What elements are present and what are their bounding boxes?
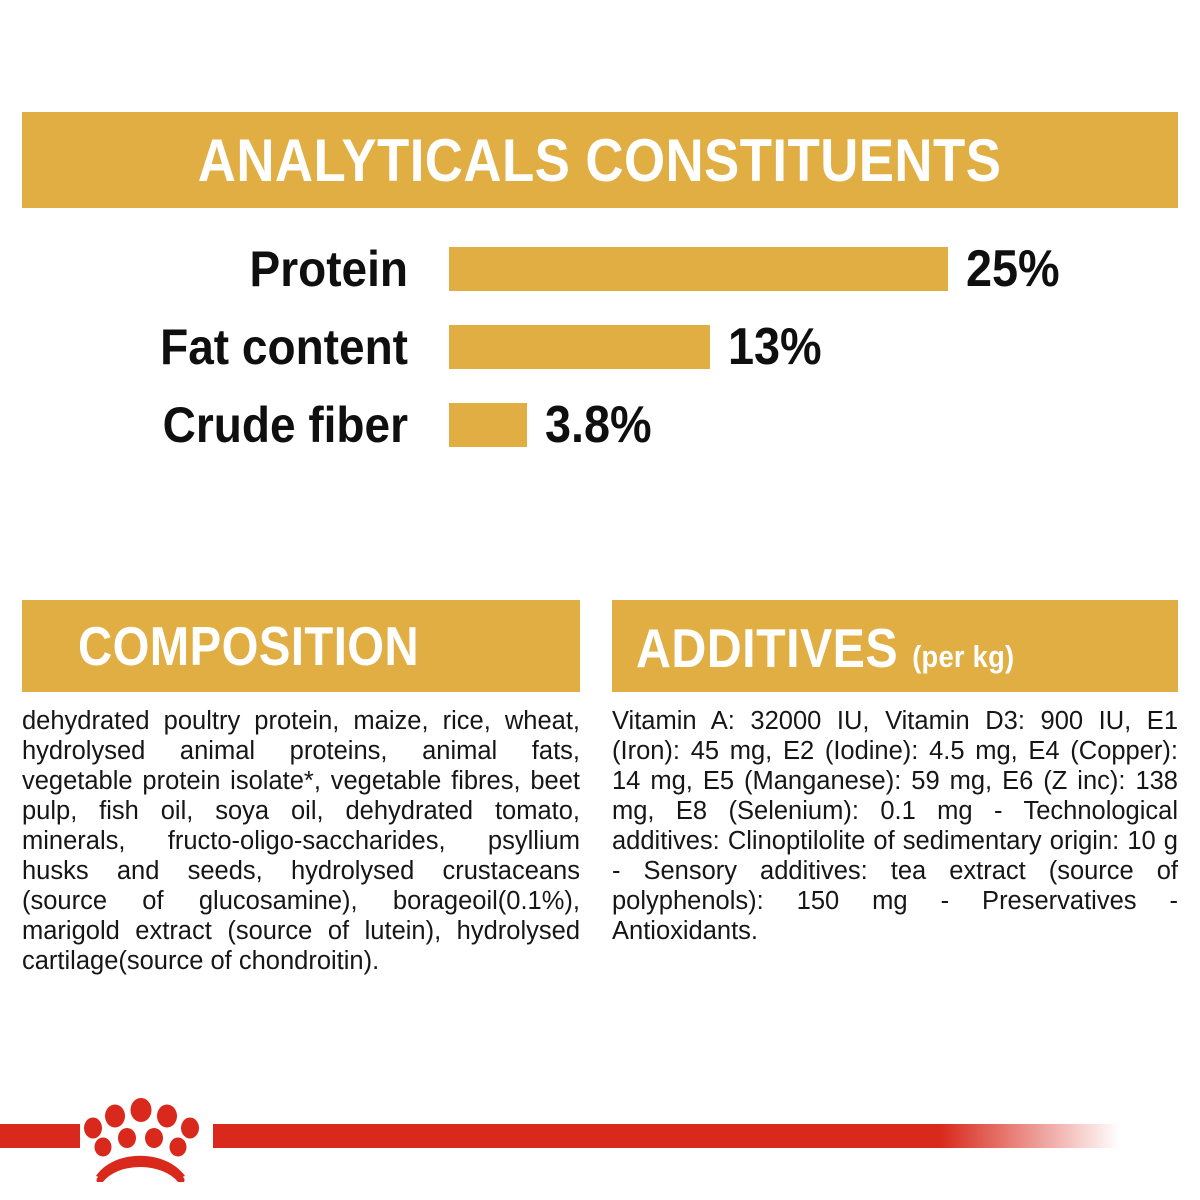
footer-rule-left: [0, 1124, 80, 1148]
analyticals-bar-chart: Protein 25% Fat content 13% Crude fiber …: [0, 240, 1200, 465]
additives-title-group: ADDITIVES (per kg): [636, 616, 1014, 692]
additives-body-text: Vitamin A: 32000 IU, Vitamin D3: 900 IU,…: [612, 706, 1178, 946]
analyticals-constituents-title: ANALYTICALS CONSTITUENTS: [198, 126, 1002, 195]
chart-row-label-crude-fiber: Crude fiber: [33, 396, 408, 454]
chart-bar-area: 13%: [449, 318, 832, 376]
composition-body-text: dehydrated poultry protein, maize, rice,…: [22, 706, 580, 976]
chart-value-crude-fiber: 3.8%: [545, 396, 652, 454]
chart-bar-area: 25%: [449, 240, 1070, 298]
chart-bar-fat-content: [449, 325, 710, 369]
chart-row: Fat content 13%: [0, 318, 1200, 376]
composition-title: COMPOSITION: [78, 614, 419, 678]
chart-value-protein: 25%: [966, 240, 1060, 298]
chart-bar-crude-fiber: [449, 403, 527, 447]
additives-per-kg-label: (per kg): [912, 639, 1014, 675]
chart-row: Protein 25%: [0, 240, 1200, 298]
footer-rule-right: [213, 1124, 1120, 1148]
chart-value-fat-content: 13%: [728, 318, 822, 376]
footer-logo-band: [0, 1090, 1200, 1200]
chart-bar-protein: [449, 247, 948, 291]
chart-row: Crude fiber 3.8%: [0, 396, 1200, 454]
composition-banner: COMPOSITION: [22, 600, 580, 692]
additives-title: ADDITIVES: [636, 616, 898, 680]
chart-bar-area: 3.8%: [449, 396, 664, 454]
royal-canin-crown-icon: [84, 1090, 210, 1182]
additives-banner: ADDITIVES (per kg): [612, 600, 1178, 692]
chart-row-label-fat-content: Fat content: [33, 318, 408, 376]
analyticals-constituents-banner: ANALYTICALS CONSTITUENTS: [22, 112, 1178, 208]
chart-row-label-protein: Protein: [33, 240, 408, 298]
